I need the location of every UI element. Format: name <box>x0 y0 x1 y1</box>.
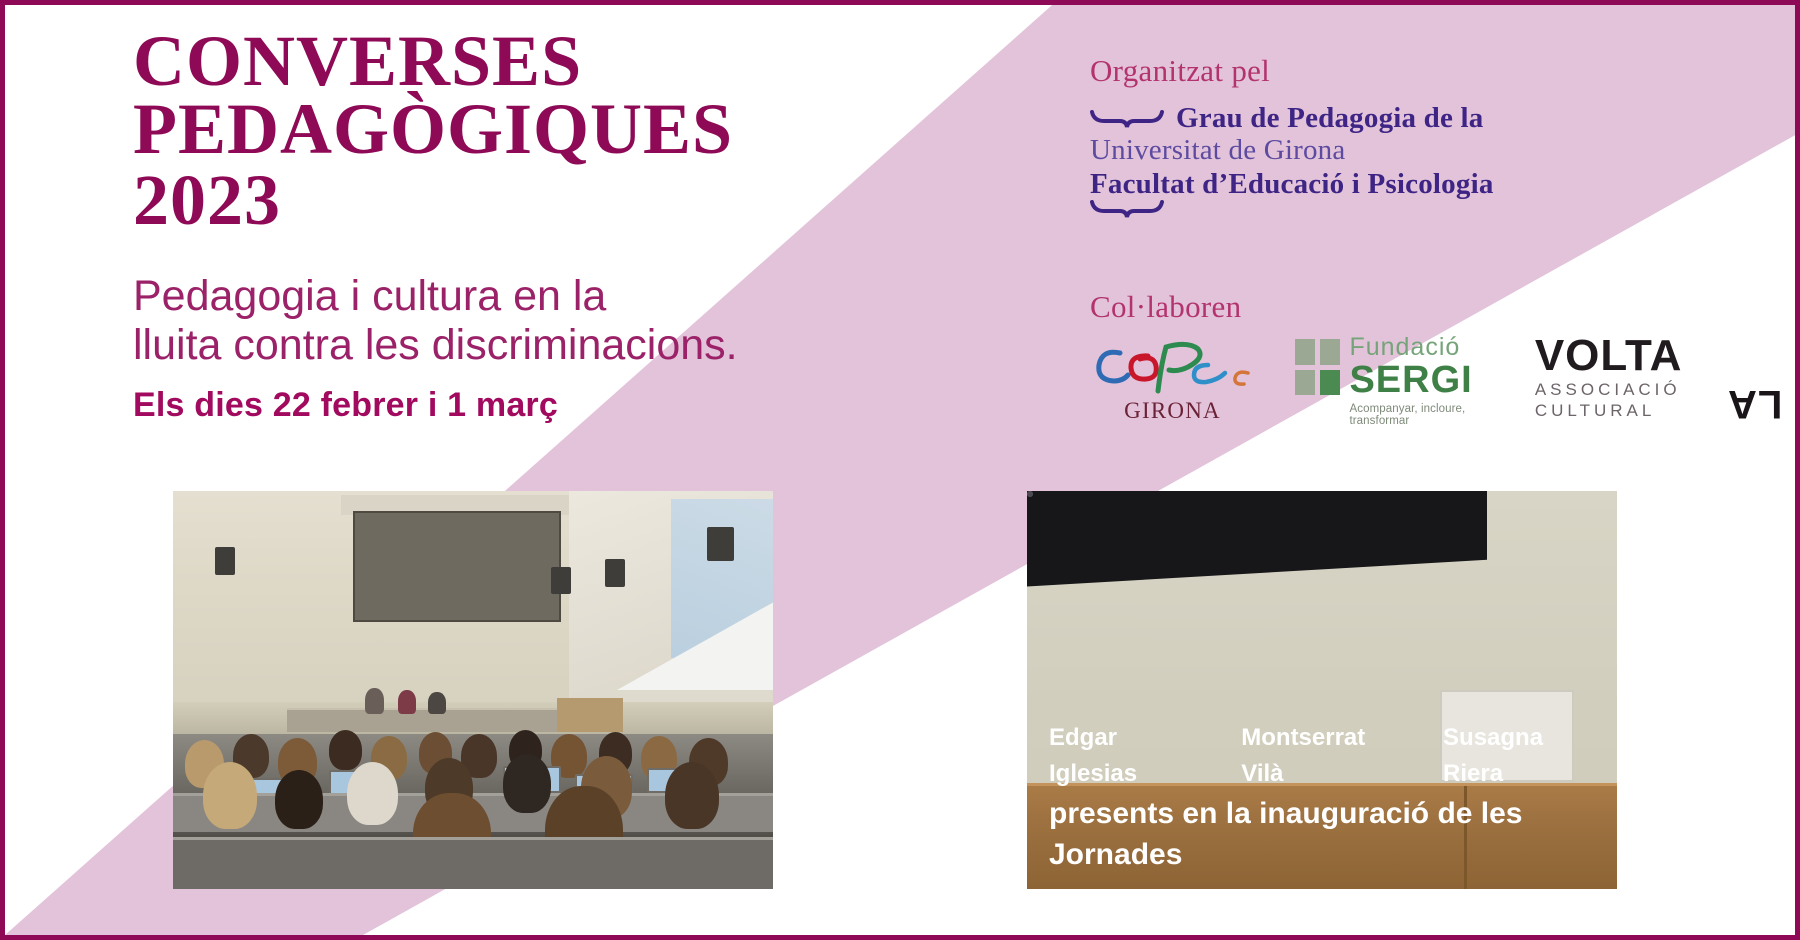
udg-line-3: Facultat d’Educació i Psicologia <box>1090 168 1730 200</box>
audience-head <box>503 754 551 814</box>
hall-panel-table <box>287 708 563 732</box>
title-line-2: PEDAGÒGIQUES <box>133 95 833 163</box>
hall-speaker-mid <box>551 567 571 595</box>
audience-head <box>347 762 398 826</box>
collaborator-logos-row: GIRONA Fundació SERGI Acompanyar, inclou… <box>1090 335 1730 427</box>
subtitle-line-1: Pedagogia i cultura en la <box>133 272 833 321</box>
audience-head <box>665 762 719 830</box>
panelist-3-glasses-right <box>1027 491 1033 497</box>
caption-name-1: Edgar Iglesias <box>1049 720 1201 792</box>
left-text-column: CONVERSES PEDAGÒGIQUES 2023 Pedagogia i … <box>133 27 833 425</box>
right-logos-column: Organitzat pel Grau de Pedagogia de la U… <box>1090 53 1730 427</box>
udg-line-2: Universitat de Girona <box>1090 133 1730 167</box>
hall-panelist-1 <box>365 688 384 714</box>
lecture-hall-photo <box>173 491 773 889</box>
hall-seat-row <box>173 837 773 889</box>
brace-top-icon <box>1090 108 1164 133</box>
sergi-square <box>1295 339 1315 365</box>
volta-sub-line-2: CULTURAL <box>1535 401 1730 422</box>
poster-canvas: CONVERSES PEDAGÒGIQUES 2023 Pedagogia i … <box>0 0 1800 940</box>
sergi-wordmark: Fundació SERGI Acompanyar, incloure, tra… <box>1349 335 1494 427</box>
hall-panelist-2 <box>398 690 416 714</box>
la-volta-logo: VOLTA ASSOCIACIÓ CULTURAL LA <box>1535 335 1730 421</box>
volta-prefix-la: LA <box>1727 381 1782 426</box>
udg-logo: Grau de Pedagogia de la Universitat de G… <box>1090 103 1730 225</box>
copec-wordmark-icon <box>1090 335 1255 397</box>
event-dates: Els dies 22 febrer i 1 març <box>133 370 833 425</box>
sergi-line-2: SERGI <box>1349 361 1494 399</box>
title-line-1: CONVERSES <box>133 27 833 95</box>
audience-head <box>203 762 257 830</box>
hall-panelist-3 <box>428 692 446 714</box>
volta-subtitle: ASSOCIACIÓ CULTURAL <box>1535 380 1730 421</box>
udg-line-1: Grau de Pedagogia de la <box>1176 103 1484 133</box>
subtitle-line-2: lluita contra les discriminacions. <box>133 321 833 370</box>
page-title: CONVERSES PEDAGÒGIQUES <box>133 27 833 164</box>
volta-wordmark: VOLTA <box>1535 335 1730 377</box>
collaborators-label: Col·laboren <box>1090 289 1730 325</box>
hall-projection-screen <box>353 511 561 622</box>
subtitle: Pedagogia i cultura en la lluita contra … <box>133 236 833 370</box>
brace-bottom-icon <box>1090 207 1164 224</box>
caption-name-3: Susagna Riera <box>1443 720 1599 792</box>
fundacio-sergi-logo: Fundació SERGI Acompanyar, incloure, tra… <box>1295 335 1495 427</box>
copec-subtitle: GIRONA <box>1090 398 1255 424</box>
hall-speaker-right <box>707 527 734 561</box>
audience-head <box>329 730 362 770</box>
caption-subtitle: presents en la inauguració de les Jornad… <box>1049 792 1599 875</box>
sergi-squares-icon <box>1295 339 1340 395</box>
sergi-line-1: Fundació <box>1349 335 1494 360</box>
hall-speaker-mid2 <box>605 559 625 587</box>
sergi-square <box>1320 339 1340 365</box>
hall-podium <box>557 698 623 732</box>
hall-speaker-left <box>215 547 235 575</box>
caption-name-2: Montserrat Vilà <box>1241 720 1403 792</box>
sergi-square-accent <box>1320 370 1340 396</box>
copec-logo: GIRONA <box>1090 335 1255 424</box>
sergi-tagline: Acompanyar, incloure, transformar <box>1349 404 1494 427</box>
organized-by-label: Organitzat pel <box>1090 53 1730 89</box>
panel-photo-caption: Edgar Iglesias Montserrat Vilà Susagna R… <box>1027 712 1617 889</box>
audience-head <box>275 770 323 830</box>
caption-names-row: Edgar Iglesias Montserrat Vilà Susagna R… <box>1049 720 1599 792</box>
panel-photo: Edgar Iglesias Montserrat Vilà Susagna R… <box>1027 491 1617 889</box>
sergi-square <box>1295 370 1315 396</box>
udg-logo-top-row: Grau de Pedagogia de la <box>1090 103 1730 133</box>
volta-sub-line-1: ASSOCIACIÓ <box>1535 380 1730 401</box>
title-year: 2023 <box>133 164 833 236</box>
